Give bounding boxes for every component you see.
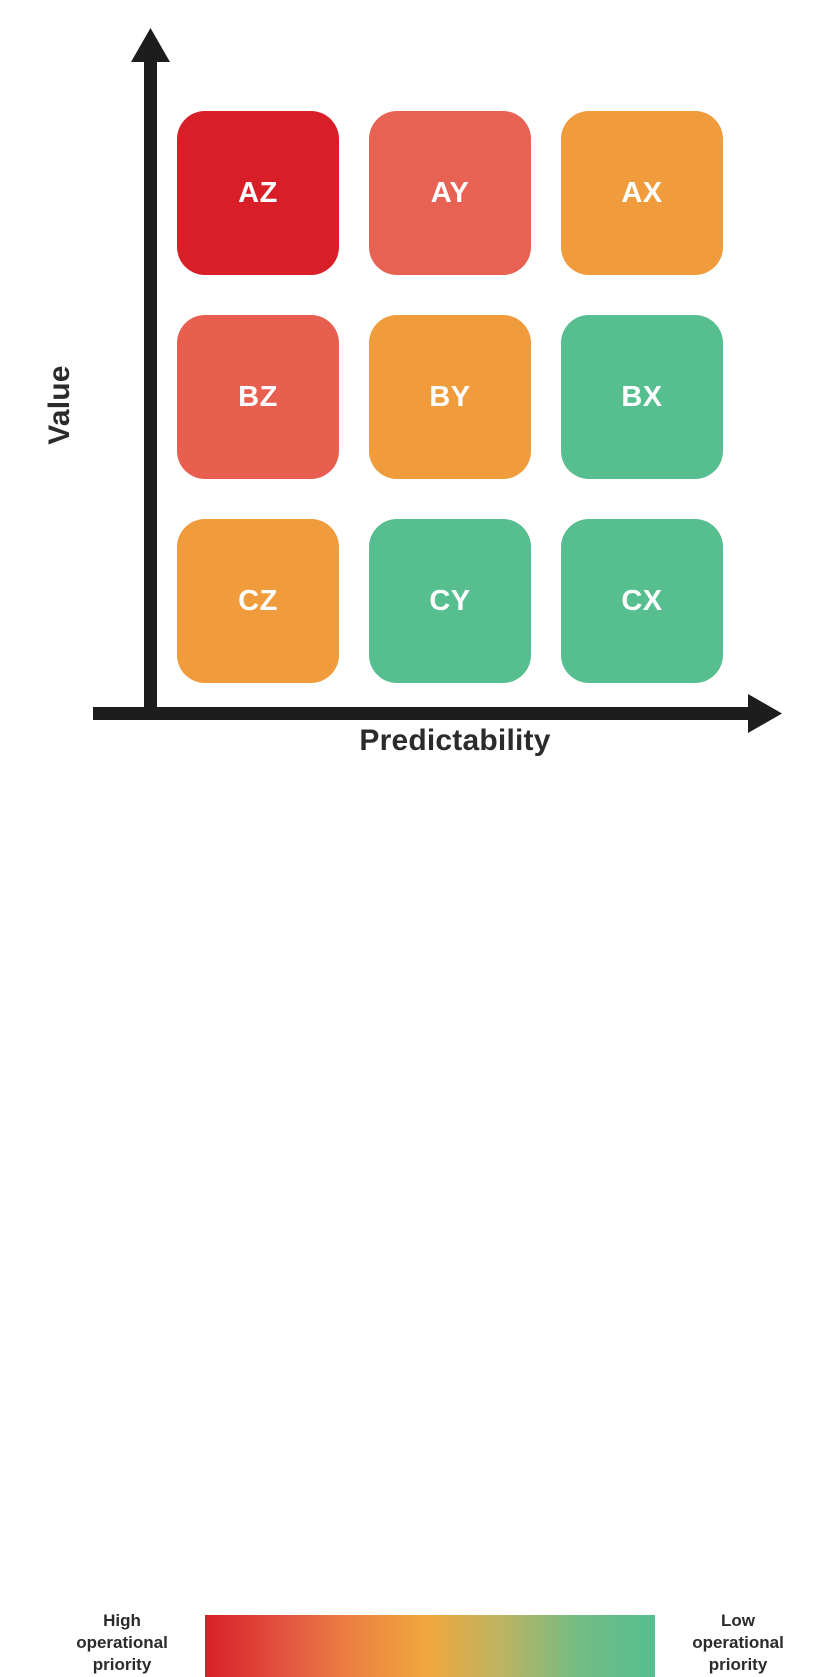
legend-label-high-priority: High operational priority (52, 1610, 192, 1676)
priority-legend: High operational priority Low operationa… (0, 800, 837, 895)
matrix-grid: AZ AY AX BZ BY BX CZ CY CX (177, 111, 724, 683)
priority-gradient-bar (205, 1615, 655, 1677)
matrix-cell-cy[interactable]: CY (369, 519, 531, 683)
matrix-cell-label: BY (429, 381, 470, 414)
matrix-cell-bx[interactable]: BX (561, 315, 723, 479)
matrix-cell-ay[interactable]: AY (369, 111, 531, 275)
matrix-cell-label: CY (429, 585, 470, 618)
y-axis-line (144, 55, 157, 712)
matrix-cell-ax[interactable]: AX (561, 111, 723, 275)
matrix-cell-cz[interactable]: CZ (177, 519, 339, 683)
matrix-cell-label: AX (621, 177, 662, 210)
matrix-cell-label: CX (621, 585, 662, 618)
legend-label-low-priority: Low operational priority (668, 1610, 808, 1676)
matrix-cell-bz[interactable]: BZ (177, 315, 339, 479)
matrix-cell-label: BZ (238, 381, 278, 414)
x-axis-line (93, 707, 754, 720)
x-axis-label: Predictability (155, 724, 755, 758)
prioritization-matrix-figure: Value Predictability AZ AY AX BZ BY BX C… (0, 0, 837, 907)
arrow-up-icon (131, 28, 170, 62)
matrix-cell-cx[interactable]: CX (561, 519, 723, 683)
matrix-cell-label: AZ (238, 177, 278, 210)
matrix-cell-label: AY (431, 177, 470, 210)
y-axis-label: Value (43, 305, 77, 505)
matrix-cell-by[interactable]: BY (369, 315, 531, 479)
matrix-cell-az[interactable]: AZ (177, 111, 339, 275)
matrix-cell-label: CZ (238, 585, 278, 618)
matrix-cell-label: BX (621, 381, 662, 414)
